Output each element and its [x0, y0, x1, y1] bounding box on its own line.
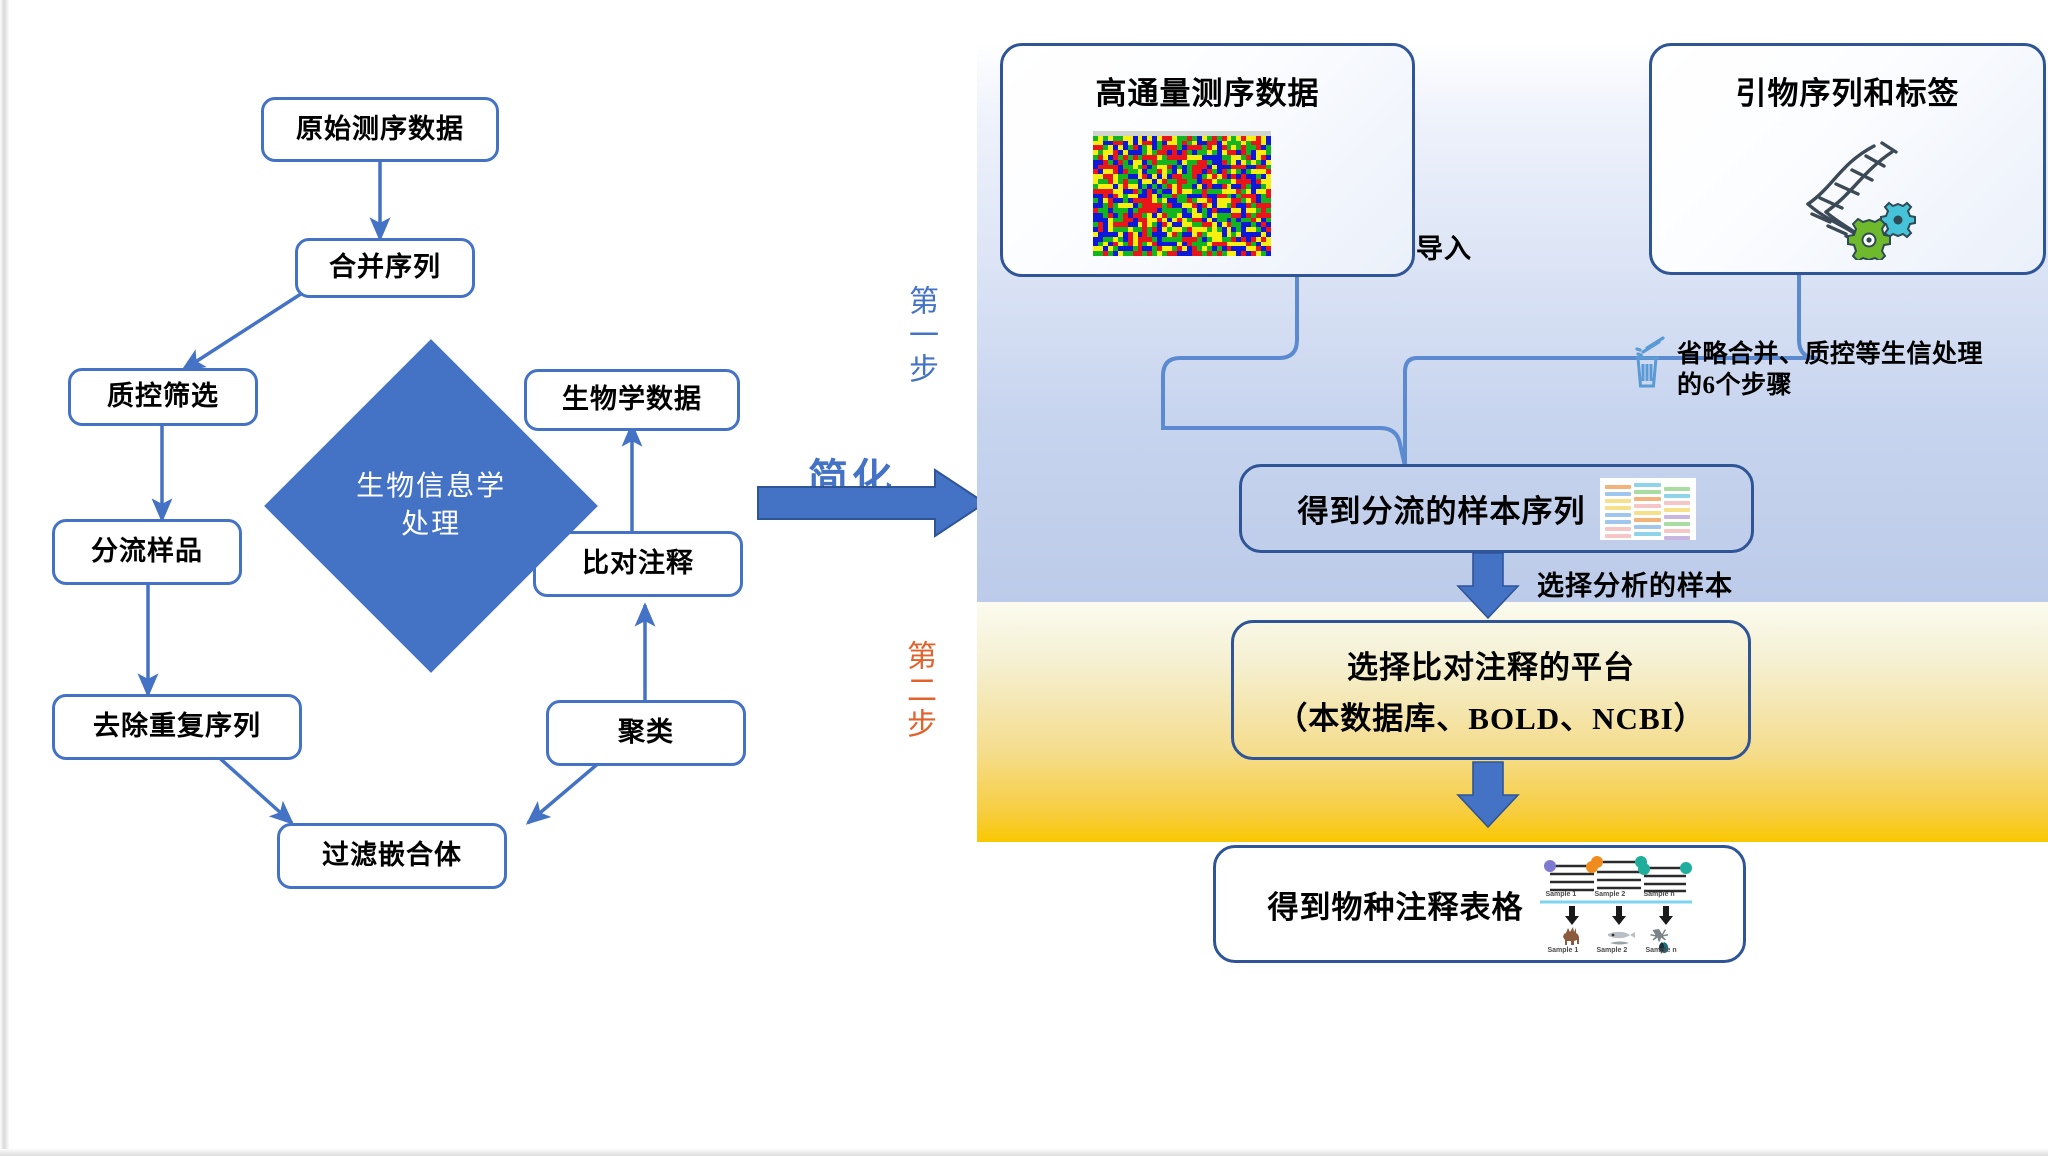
- sample-label-top-1: Sample 1: [1546, 891, 1577, 898]
- node-label: 过滤嵌合体: [322, 840, 462, 871]
- node-quality-control-filter[interactable]: 质控筛选: [68, 368, 258, 426]
- node-raw-sequencing-data[interactable]: 原始测序数据: [261, 97, 499, 162]
- node-label: 聚类: [618, 717, 674, 748]
- trash-bin-icon: [1629, 336, 1671, 401]
- node-label: 去除重复序列: [93, 711, 261, 742]
- node-biological-data[interactable]: 生物学数据: [524, 369, 740, 431]
- node-label: 比对注释: [582, 548, 694, 579]
- sequence-bars-icon: [1600, 478, 1696, 540]
- node-filter-chimeras[interactable]: 过滤嵌合体: [277, 823, 507, 889]
- node-label: 分流样品: [91, 536, 203, 567]
- omitted-note-line1: 省略合并、质控等生信处理: [1677, 340, 2048, 371]
- node-clustering[interactable]: 聚类: [546, 700, 746, 766]
- node-alignment-annotation[interactable]: 比对注释: [533, 531, 743, 597]
- sample-label-bottom-3: Sample n: [1646, 947, 1677, 954]
- box-title: 得到物种注释表格: [1268, 882, 1524, 927]
- diamond-label-line1: 生物信息学: [316, 468, 546, 506]
- page-edge-bottom: [0, 1149, 2048, 1156]
- right-panel: 高通量测序数据 引物序列和标签: [977, 40, 2048, 842]
- simplify-label: 简化: [808, 446, 896, 504]
- omitted-steps-note: 省略合并、质控等生信处理 的6个步骤: [1677, 340, 2048, 401]
- species-annotation-table-icon: Sample 1 Sample 2 Sample n Sample 1 Samp…: [1540, 850, 1692, 958]
- node-label: 原始测序数据: [296, 114, 464, 145]
- node-demultiplex-samples[interactable]: 分流样品: [52, 519, 242, 585]
- sample-label-top-2: Sample 2: [1595, 891, 1626, 898]
- sample-label-top-3: Sample n: [1644, 891, 1675, 898]
- page-edge-strip: [0, 0, 9, 1156]
- diamond-label-line2: 处理: [316, 506, 546, 544]
- platform-line1: 选择比对注释的平台: [1347, 642, 1635, 687]
- step-one-label: 第一步: [905, 285, 935, 387]
- dna-helix-gears-icon: [1770, 130, 1940, 260]
- sequence-heatmap-icon: [1093, 131, 1271, 256]
- omitted-note-line2: 的6个步骤: [1677, 371, 2048, 402]
- step-two-label: 第二步: [903, 640, 933, 742]
- node-remove-duplicate-sequences[interactable]: 去除重复序列: [52, 694, 302, 760]
- box-demultiplexed-sample-sequences[interactable]: 得到分流的样本序列: [1239, 464, 1754, 553]
- box-title: 得到分流的样本序列: [1298, 486, 1586, 531]
- diamond-label-wrap: 生物信息学 处理: [316, 468, 546, 544]
- node-merge-sequences[interactable]: 合并序列: [295, 238, 475, 298]
- box-species-annotation-table[interactable]: 得到物种注释表格: [1213, 845, 1746, 963]
- box-title: 高通量测序数据: [1096, 68, 1320, 113]
- box-primer-sequences-and-tags[interactable]: 引物序列和标签: [1649, 43, 2046, 275]
- box-high-throughput-sequencing-data[interactable]: 高通量测序数据: [1000, 43, 1415, 277]
- platform-line2: （本数据库、BOLD、NCBI）: [1276, 693, 1705, 738]
- box-select-annotation-platform[interactable]: 选择比对注释的平台 （本数据库、BOLD、NCBI）: [1231, 620, 1751, 760]
- select-samples-label: 选择分析的样本: [1537, 564, 1733, 603]
- box-title: 引物序列和标签: [1736, 68, 1960, 113]
- node-label: 质控筛选: [107, 381, 219, 412]
- node-label: 合并序列: [329, 252, 441, 283]
- node-label: 生物学数据: [562, 384, 702, 415]
- import-label: 导入: [1416, 227, 1472, 266]
- sample-label-bottom-2: Sample 2: [1597, 947, 1628, 954]
- sample-label-bottom-1: Sample 1: [1548, 947, 1579, 954]
